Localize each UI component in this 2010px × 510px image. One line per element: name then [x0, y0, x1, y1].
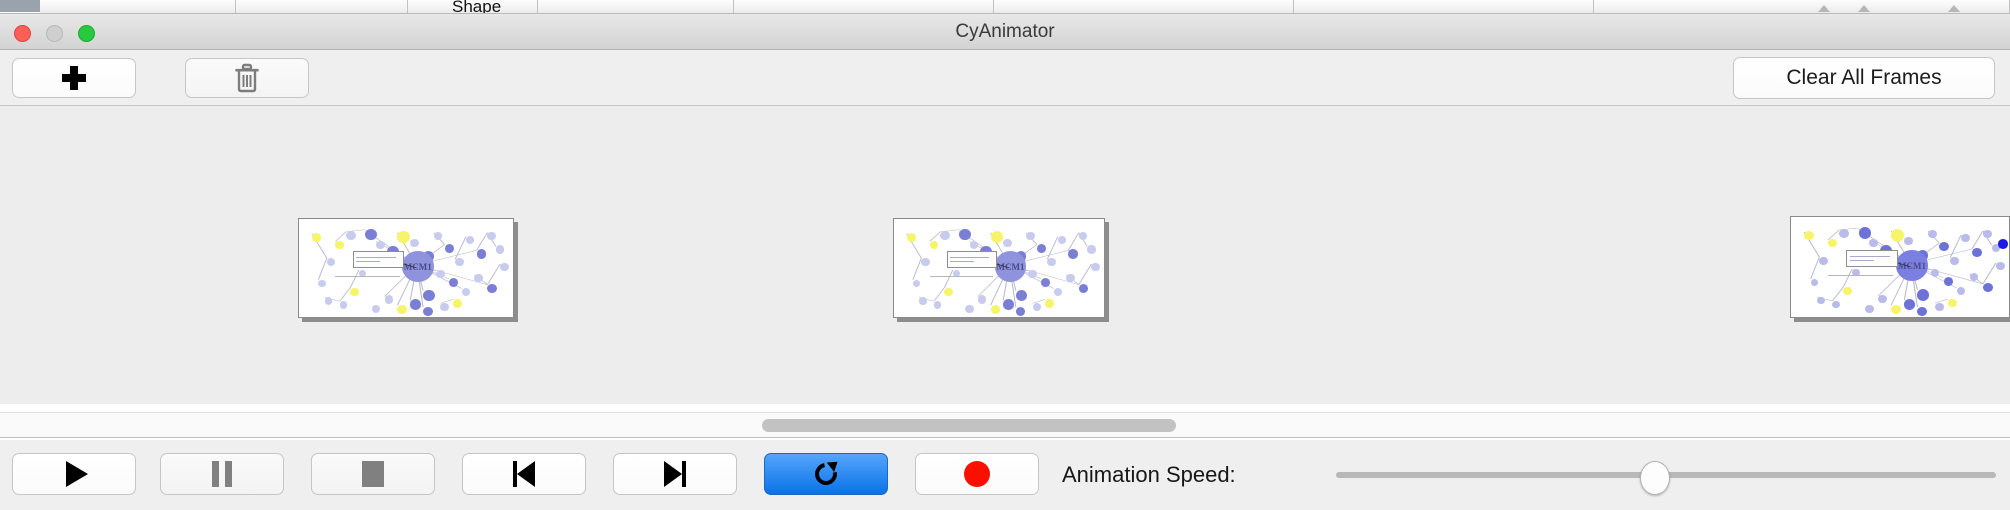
frame-network-view: MCM1 [893, 218, 1105, 318]
callout-leader-line [299, 219, 513, 317]
bg-tab-1 [40, 0, 236, 14]
timeline-frame-thumbnail[interactable]: MCM1 [893, 218, 1105, 318]
network-annotation-text [930, 276, 993, 277]
animation-speed-label: Animation Speed: [1062, 440, 1236, 510]
skip-forward-icon [662, 461, 688, 487]
playback-bar: Animation Speed: [0, 440, 2010, 510]
record-button[interactable] [915, 453, 1039, 495]
bg-window-partial-label: Shape [452, 0, 501, 14]
pause-icon [212, 461, 232, 487]
slider-thumb[interactable] [1640, 461, 1670, 495]
network-annotation-text [335, 276, 399, 277]
timeline-frame-thumbnail[interactable]: MCM1 [1790, 216, 2010, 318]
trash-icon [232, 62, 262, 94]
record-icon [964, 461, 990, 487]
clear-all-frames-label: Clear All Frames [1786, 66, 1941, 90]
plus-icon [61, 65, 87, 91]
callout-leader-line [894, 219, 1104, 317]
sort-arrow-icon-2 [1858, 5, 1870, 12]
window-title: CyAnimator [0, 14, 2010, 50]
clear-all-frames-button[interactable]: Clear All Frames [1733, 57, 1995, 99]
sort-arrow-icon-1 [1818, 5, 1830, 12]
frame-network-view: MCM1 [298, 218, 514, 318]
callout-leader-line [1791, 217, 2009, 317]
delete-frame-button[interactable] [185, 58, 309, 98]
network-annotation-text [1828, 275, 1893, 276]
animation-speed-slider[interactable] [1336, 440, 1996, 510]
timeline-scrollbar[interactable] [0, 412, 2010, 438]
play-icon [66, 461, 88, 487]
timeline-frame-thumbnail[interactable]: MCM1 [298, 218, 514, 318]
bg-tab-2 [236, 0, 408, 14]
stop-icon [362, 461, 384, 487]
add-frame-button[interactable] [12, 58, 136, 98]
bg-tab-7 [1294, 0, 1594, 14]
bg-tab-6 [994, 0, 1294, 14]
timeline-panel[interactable]: MCM1 MCM1 MCM1 2131415161718 Seconds [0, 106, 2010, 404]
background-windows-strip: Shape [0, 0, 2010, 14]
cyanimator-window: Shape CyAnimator Clear All Frame [0, 0, 2010, 510]
play-button[interactable] [12, 453, 136, 495]
bg-tab-5 [734, 0, 994, 14]
scrollbar-thumb[interactable] [762, 419, 1176, 432]
title-bar: CyAnimator [0, 14, 2010, 50]
first-frame-button[interactable] [462, 453, 586, 495]
loop-icon [813, 461, 839, 487]
bg-tab-4 [538, 0, 734, 14]
stop-button[interactable] [311, 453, 435, 495]
bg-dark-tab [0, 0, 40, 12]
skip-back-icon [511, 461, 537, 487]
pause-button[interactable] [160, 453, 284, 495]
last-frame-button[interactable] [613, 453, 737, 495]
sort-arrow-icon-3 [1948, 5, 1960, 12]
frame-network-view: MCM1 [1790, 216, 2010, 318]
toolbar: Clear All Frames [0, 50, 2010, 106]
loop-button[interactable] [764, 453, 888, 495]
